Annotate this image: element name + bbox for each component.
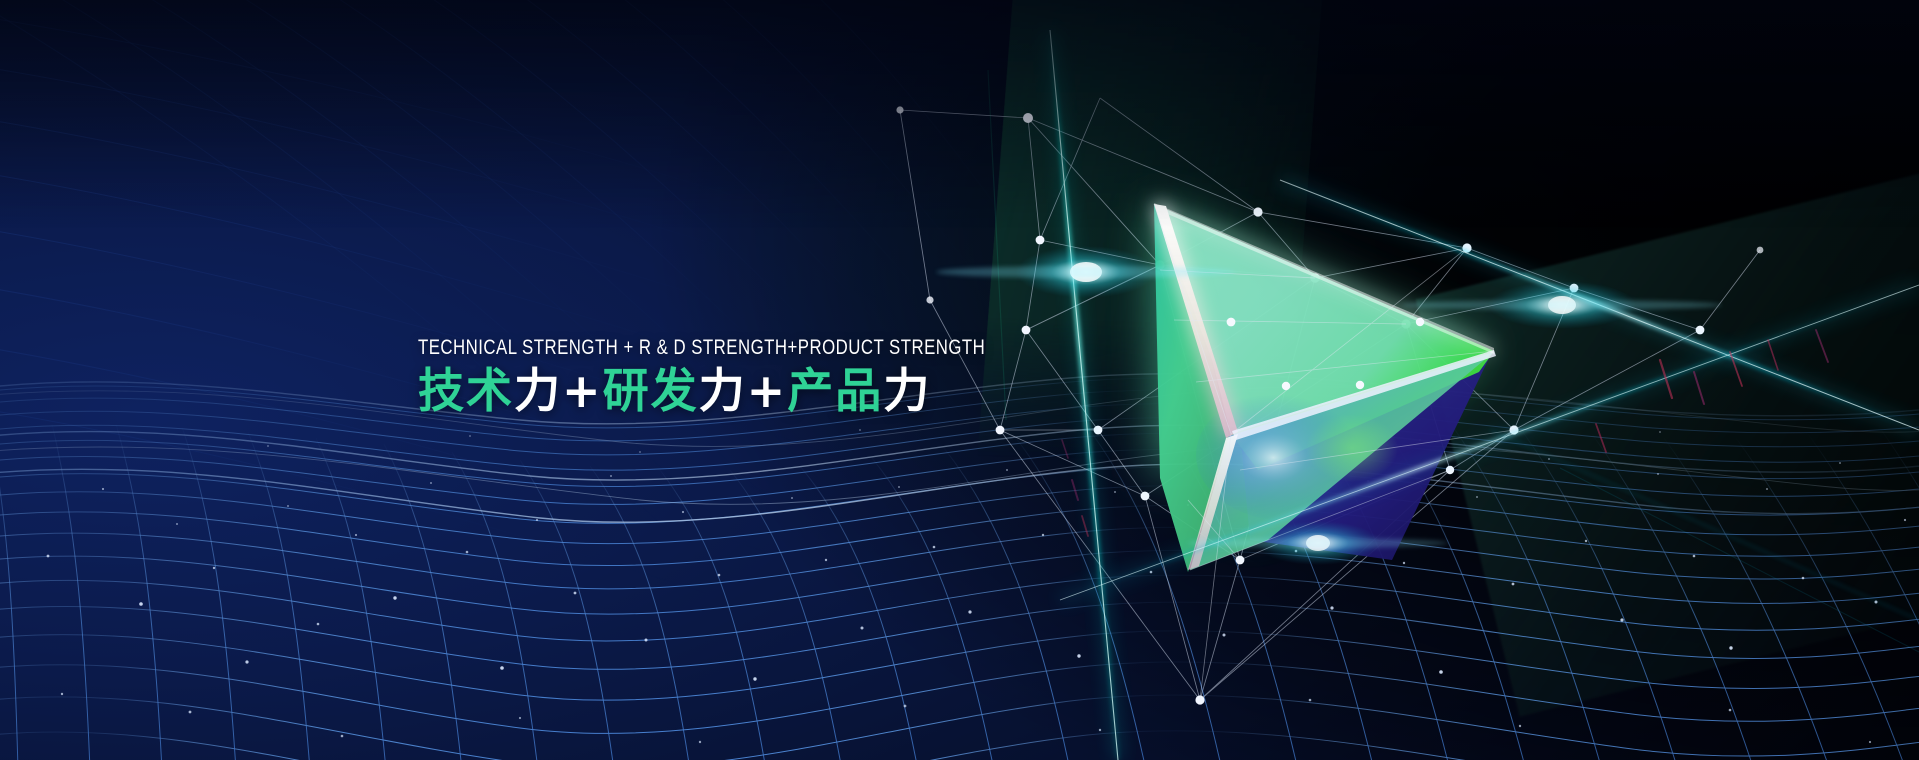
- hero-banner: TECHNICAL STRENGTH + R & D STRENGTH+PROD…: [0, 0, 1919, 760]
- headline-cn-seg-2: +: [562, 364, 603, 419]
- headline-cn-seg-4: 力: [699, 364, 747, 419]
- headline-cn-seg-3: 研发: [603, 364, 699, 419]
- headline-block: TECHNICAL STRENGTH + R & D STRENGTH+PROD…: [418, 336, 1127, 420]
- headline-cn-seg-1: 力: [514, 364, 562, 419]
- headline-cn-seg-0: 技术: [418, 364, 514, 419]
- headline-chinese: 技术力+研发力+产品力: [418, 364, 1113, 420]
- headline-cn-seg-6: 产品: [787, 364, 883, 419]
- headline-english: TECHNICAL STRENGTH + R & D STRENGTH+PROD…: [418, 336, 985, 360]
- headline-cn-seg-5: +: [747, 364, 788, 419]
- headline-cn-seg-7: 力: [883, 364, 931, 419]
